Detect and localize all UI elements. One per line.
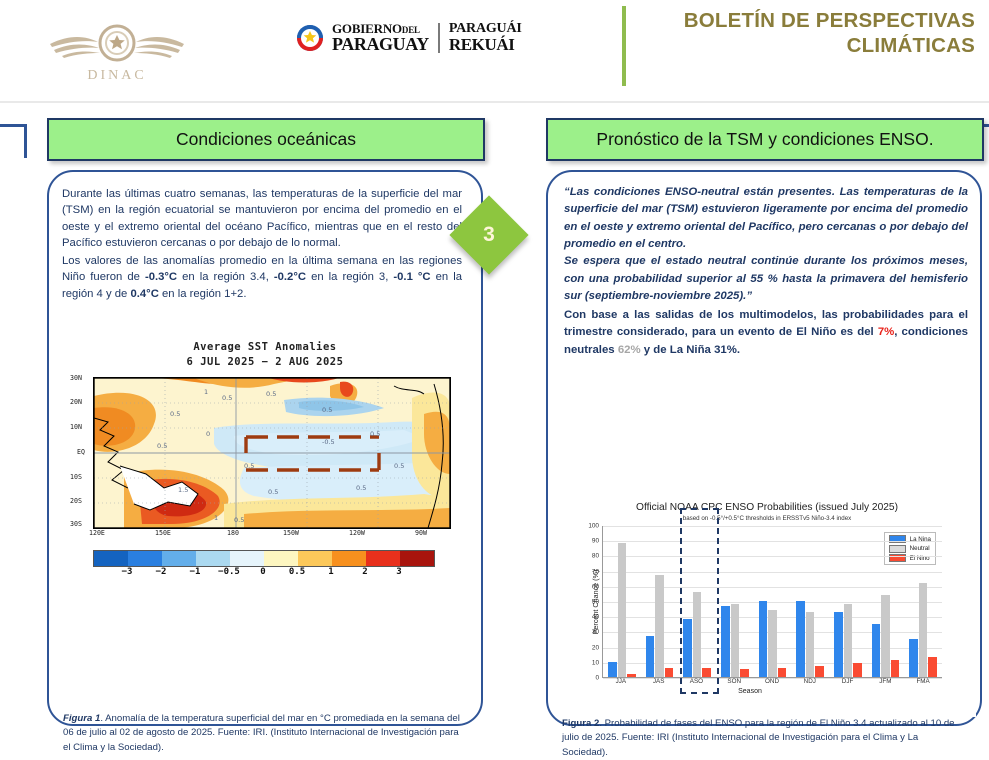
svg-text:0.5: 0.5 <box>356 484 366 492</box>
left-panel-body: Durante las últimas cuatro semanas, las … <box>47 170 483 726</box>
svg-text:0: 0 <box>206 430 210 438</box>
map-xtick-150e: 150E <box>155 529 171 537</box>
dinac-wings-icon <box>42 20 192 66</box>
svg-text:0.5: 0.5 <box>322 406 332 414</box>
chart-subtitle: based on -0.5°/+0.5°C thresholds in ERSS… <box>558 515 976 522</box>
figure-2-caption: Figura 2. Probabilidad de fases del ENSO… <box>562 717 966 760</box>
bar-FMA-el-nino <box>928 657 937 677</box>
svg-text:1: 1 <box>214 514 218 522</box>
chart-x-ticks: JJAJASASOSONONDNDJDJFJFMFMA <box>602 678 942 689</box>
y-tick-0: 0 <box>595 675 599 682</box>
bar-JJA-el-nino <box>627 674 636 677</box>
quote-paragraph-2: Se espera que el estado neutral continúe… <box>564 253 968 305</box>
bar-JFM-el-nino <box>891 660 900 677</box>
bar-JAS-neutral <box>655 575 664 677</box>
x-tick-FMA: FMA <box>916 678 929 685</box>
nino3-anomaly-value: -0.2°C <box>274 271 306 283</box>
bar-group-SON[interactable] <box>716 526 754 677</box>
bar-JAS-la-nina <box>646 636 655 677</box>
quote-paragraph-1: “Las condiciones ENSO-neutral están pres… <box>564 184 968 253</box>
bar-DJF-el-nino <box>853 663 862 677</box>
paragraph-1: Durante las últimas cuatro semanas, las … <box>62 186 462 252</box>
svg-text:1.5: 1.5 <box>178 486 188 494</box>
colorbar-segment-1 <box>128 551 162 566</box>
sst-map-plot: 10.5 0.50.5 0.50 0.50.5 0.50.5 0.50.5 1.… <box>93 377 451 529</box>
svg-text:0.5: 0.5 <box>157 442 167 450</box>
map-ytick-10s: 10S <box>70 473 82 481</box>
y-tick-90: 90 <box>592 538 599 545</box>
x-tick-JAS: JAS <box>653 678 665 685</box>
bar-JFM-neutral <box>881 595 890 677</box>
figure-2-enso-chart: Official NOAA CPC ENSO Probabilities (is… <box>558 502 976 717</box>
frame-stub-left-side <box>24 124 27 158</box>
gov-line3: PARAGUÁI <box>449 22 522 36</box>
sst-colorbar <box>93 550 435 567</box>
right-panel-title: Pronóstico de la TSM y condiciones ENSO. <box>546 118 984 161</box>
p3-part-c: y de La Niña <box>641 344 714 356</box>
colorbar-tick-2: −1 <box>190 567 201 577</box>
colorbar-segment-4 <box>230 551 264 566</box>
colorbar-segment-8 <box>366 551 400 566</box>
y-tick-50: 50 <box>592 599 599 606</box>
colorbar-tick-7: 2 <box>362 567 367 577</box>
bar-group-NDJ[interactable] <box>791 526 829 677</box>
paragraph-2: Los valores de las anomalías promedio en… <box>62 253 462 302</box>
nino4-anomaly-value: -0.1 °C <box>393 271 430 283</box>
dinac-label: DINAC <box>87 68 146 84</box>
svg-text:0.5: 0.5 <box>170 410 180 418</box>
map-ytick-30n: 30N <box>70 374 82 382</box>
p2-part-b: en la región 3.4, <box>177 271 274 283</box>
step-badge-number: 3 <box>461 207 517 263</box>
map-ytick-20s: 20S <box>70 497 82 505</box>
map-ytick-10n: 10N <box>70 423 82 431</box>
bulletin-title-line2: CLIMÁTICAS <box>640 33 975 58</box>
x-tick-ASO: ASO <box>690 678 703 685</box>
chart-xlabel: Season <box>558 688 942 695</box>
bar-JJA-neutral <box>618 543 627 677</box>
bar-FMA-la-nina <box>909 639 918 677</box>
bar-SON-el-nino <box>740 669 749 677</box>
y-tick-10: 10 <box>592 659 599 666</box>
p2-part-e: en la región 1+2. <box>159 288 247 300</box>
map-ytick-eq: EQ <box>77 448 85 456</box>
probabilities-paragraph: Con base a las salidas de los multimodel… <box>564 307 968 358</box>
figure2-caption-text: . Probabilidad de fases del ENSO para la… <box>562 718 955 758</box>
left-panel-title-text: Condiciones oceánicas <box>176 129 356 150</box>
y-tick-80: 80 <box>592 553 599 560</box>
paraguay-seal-icon <box>296 24 324 52</box>
svg-text:0.5: 0.5 <box>266 390 276 398</box>
frame-stub-left-top <box>0 124 27 127</box>
bar-JFM-la-nina <box>872 624 881 677</box>
page-header: DINAC GOBIERNODEL PARAGUAY PARAGUÁI REKU… <box>0 0 989 103</box>
map-ytick-30s: 30S <box>70 520 82 528</box>
right-panel-body: “Las condiciones ENSO-neutral están pres… <box>546 170 982 726</box>
bulletin-title-line1: BOLETÍN DE PERSPECTIVAS <box>640 8 975 33</box>
bar-OND-el-nino <box>778 668 787 677</box>
x-tick-SON: SON <box>727 678 741 685</box>
elnino-probability-value: 7% <box>878 326 894 338</box>
header-accent-rule <box>622 6 626 86</box>
colorbar-segment-0 <box>94 551 128 566</box>
neutral-probability-value: 62% <box>618 344 641 356</box>
svg-text:0.5: 0.5 <box>394 462 404 470</box>
colorbar-segment-9 <box>400 551 434 566</box>
bar-JAS-el-nino <box>665 668 674 677</box>
sst-colorbar-ticks: −3−2−1−0.500.5123 <box>93 567 433 580</box>
y-tick-60: 60 <box>592 583 599 590</box>
bar-DJF-neutral <box>844 604 853 677</box>
chart-plot-area: Percent Chance (%) La Nina Neutral El Ni… <box>602 526 942 678</box>
chart-bar-groups <box>603 526 942 677</box>
colorbar-tick-8: 3 <box>396 567 401 577</box>
figure1-title-line2: 6 JUL 2025 − 2 AUG 2025 <box>63 355 467 370</box>
left-panel: Condiciones oceánicas Durante las última… <box>42 118 494 728</box>
y-tick-70: 70 <box>592 568 599 575</box>
bulletin-title: BOLETÍN DE PERSPECTIVAS CLIMÁTICAS <box>640 8 975 58</box>
bar-DJF-la-nina <box>834 612 843 677</box>
left-panel-title: Condiciones oceánicas <box>47 118 485 161</box>
colorbar-tick-1: −2 <box>156 567 167 577</box>
bar-group-JFM[interactable] <box>867 526 905 677</box>
ocean-conditions-text: Durante las últimas cuatro semanas, las … <box>62 186 462 302</box>
bar-SON-la-nina <box>721 606 730 677</box>
y-tick-100: 100 <box>588 523 599 530</box>
bar-group-JJA[interactable] <box>603 526 641 677</box>
bar-OND-la-nina <box>759 601 768 677</box>
colorbar-segment-2 <box>162 551 196 566</box>
dinac-logo: DINAC <box>26 0 208 103</box>
x-tick-NDJ: NDJ <box>804 678 816 685</box>
chart-title: Official NOAA CPC ENSO Probabilities (is… <box>558 502 976 513</box>
bar-FMA-neutral <box>919 583 928 677</box>
svg-text:0.5: 0.5 <box>234 516 244 524</box>
nino12-anomaly-value: 0.4°C <box>130 288 158 300</box>
colorbar-tick-6: 1 <box>328 567 333 577</box>
y-tick-40: 40 <box>592 614 599 621</box>
figure-1-sst-map: Average SST Anomalies 6 JUL 2025 − 2 AUG… <box>63 340 467 622</box>
government-logo: GOBIERNODEL PARAGUAY PARAGUÁI REKUÁI <box>296 22 522 53</box>
gov-line2: PARAGUAY <box>332 35 429 53</box>
bar-group-DJF[interactable] <box>829 526 867 677</box>
bar-group-FMA[interactable] <box>904 526 942 677</box>
right-panel-title-text: Pronóstico de la TSM y condiciones ENSO. <box>596 129 933 150</box>
lanina-probability-value: 31%. <box>714 344 740 356</box>
bar-group-JAS[interactable] <box>641 526 679 677</box>
nino34-anomaly-value: -0.3°C <box>145 271 177 283</box>
colorbar-tick-3: −0.5 <box>218 567 240 577</box>
bar-JJA-la-nina <box>608 662 617 677</box>
bar-NDJ-el-nino <box>815 666 824 677</box>
colorbar-segment-5 <box>264 551 298 566</box>
gov-line4: REKUÁI <box>449 36 522 53</box>
right-panel: Pronóstico de la TSM y condiciones ENSO.… <box>541 118 989 728</box>
map-ytick-20n: 20N <box>70 398 82 406</box>
svg-text:0.5: 0.5 <box>244 462 254 470</box>
colorbar-segment-6 <box>298 551 332 566</box>
header-bottom-rule <box>0 101 989 103</box>
bar-group-OND[interactable] <box>754 526 792 677</box>
bar-NDJ-la-nina <box>796 601 805 677</box>
y-tick-30: 30 <box>592 629 599 636</box>
figure1-title-line1: Average SST Anomalies <box>63 340 467 355</box>
bar-SON-neutral <box>731 604 740 677</box>
svg-text:-0.5: -0.5 <box>322 438 335 446</box>
colorbar-tick-5: 0.5 <box>289 567 305 577</box>
figure-1-caption: Figura 1. Anomalía de la temperatura sup… <box>63 712 467 755</box>
logo-divider <box>438 23 440 53</box>
bar-OND-neutral <box>768 610 777 677</box>
svg-text:0.5: 0.5 <box>222 394 232 402</box>
colorbar-tick-0: −3 <box>122 567 133 577</box>
map-xtick-90w: 90W <box>415 529 427 537</box>
highlight-box-ASO <box>680 508 720 694</box>
sst-map-wrapper: 30N 20N 10N EQ 10S 20S 30S <box>71 377 461 542</box>
figure2-caption-label: Figura 2 <box>562 718 599 729</box>
y-tick-20: 20 <box>592 644 599 651</box>
bar-NDJ-neutral <box>806 612 815 677</box>
colorbar-segment-7 <box>332 551 366 566</box>
svg-text:0.5: 0.5 <box>268 488 278 496</box>
map-xtick-180: 180 <box>227 529 239 537</box>
colorbar-tick-4: 0 <box>260 567 265 577</box>
x-tick-JFM: JFM <box>879 678 891 685</box>
figure1-caption-label: Figura 1 <box>63 713 100 724</box>
svg-text:0.5: 0.5 <box>370 430 380 438</box>
p2-part-c: en la región 3, <box>306 271 393 283</box>
map-xtick-150w: 150W <box>283 529 299 537</box>
map-xtick-120e: 120E <box>89 529 105 537</box>
x-tick-DJF: DJF <box>842 678 854 685</box>
colorbar-segment-3 <box>196 551 230 566</box>
map-xtick-120w: 120W <box>349 529 365 537</box>
svg-text:1: 1 <box>204 388 208 396</box>
enso-forecast-text: “Las condiciones ENSO-neutral están pres… <box>564 184 968 359</box>
x-tick-OND: OND <box>765 678 779 685</box>
x-tick-JJA: JJA <box>616 678 627 685</box>
